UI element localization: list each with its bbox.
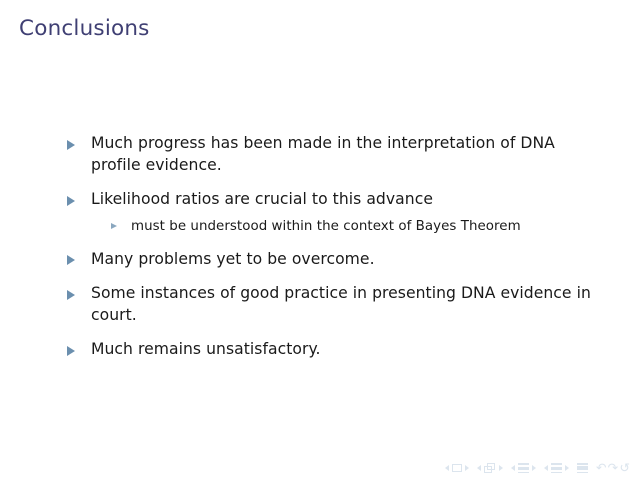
bullet-triangle-icon: [67, 196, 75, 206]
frame-navigation-icon[interactable]: [484, 463, 496, 473]
bullet-triangle-icon: [67, 255, 75, 265]
list-item: Much progress has been made in the inter…: [66, 133, 596, 176]
list-item: Likelihood ratios are crucial to this ad…: [66, 189, 596, 236]
list-item-label: Much progress has been made in the inter…: [91, 133, 596, 176]
frame-navigation-group[interactable]: [477, 463, 503, 473]
beamer-navigation-bar[interactable]: ↶↷↺: [445, 460, 631, 476]
list-item-label: Likelihood ratios are crucial to this ad…: [91, 189, 596, 211]
previous-section-icon[interactable]: [544, 465, 548, 471]
bullet-list: Much progress has been made in the inter…: [66, 133, 596, 361]
history-navigation-group[interactable]: ↶↷↺: [596, 462, 631, 474]
page-title: Conclusions: [19, 16, 150, 41]
history-arrows-icon[interactable]: ↶↷↺: [596, 462, 631, 474]
sub-list-item: must be understood within the context of…: [107, 217, 596, 236]
previous-frame-icon[interactable]: [477, 465, 481, 471]
sub-bullet-triangle-icon: [111, 223, 117, 229]
presentation-slide: Conclusions Much progress has been made …: [0, 0, 640, 480]
subsection-navigation-icon[interactable]: [518, 463, 529, 474]
list-item-label: Some instances of good practice in prese…: [91, 283, 596, 326]
bullet-triangle-icon: [67, 140, 75, 150]
bullet-triangle-icon: [67, 290, 75, 300]
list-item: Many problems yet to be overcome.: [66, 249, 596, 271]
document-navigation-group[interactable]: [577, 463, 588, 474]
slide-navigation-icon[interactable]: [452, 464, 462, 472]
sub-list-item-label: must be understood within the context of…: [131, 219, 521, 234]
next-frame-icon[interactable]: [499, 465, 503, 471]
list-item: Much remains unsatisfactory.: [66, 339, 596, 361]
previous-subsection-icon[interactable]: [511, 465, 515, 471]
next-subsection-icon[interactable]: [532, 465, 536, 471]
document-navigation-icon[interactable]: [577, 463, 588, 474]
next-slide-icon[interactable]: [465, 465, 469, 471]
next-section-icon[interactable]: [565, 465, 569, 471]
list-item-label: Many problems yet to be overcome.: [91, 249, 596, 271]
subsection-navigation-group[interactable]: [511, 463, 536, 474]
section-navigation-icon[interactable]: [551, 463, 562, 474]
sub-bullet-list: must be understood within the context of…: [91, 217, 596, 236]
slide-navigation-group[interactable]: [445, 464, 469, 472]
list-item-label: Much remains unsatisfactory.: [91, 339, 596, 361]
section-navigation-group[interactable]: [544, 463, 569, 474]
list-item: Some instances of good practice in prese…: [66, 283, 596, 326]
previous-slide-icon[interactable]: [445, 465, 449, 471]
bullet-triangle-icon: [67, 346, 75, 356]
